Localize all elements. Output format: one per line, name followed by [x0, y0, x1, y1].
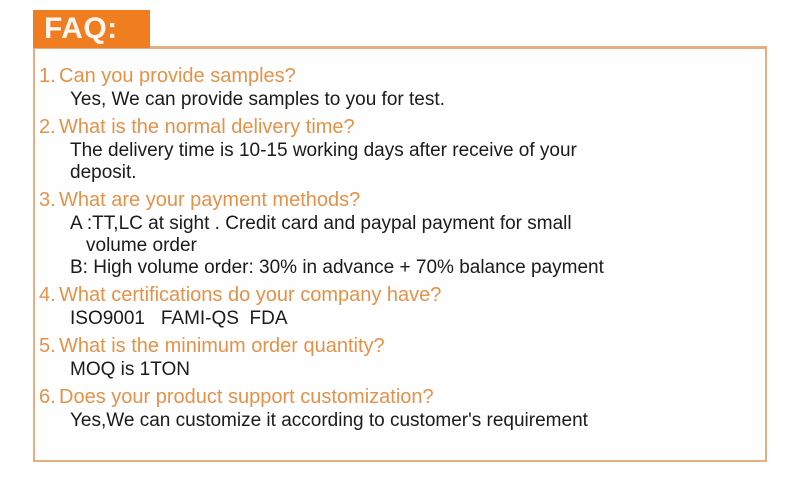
faq-question-text: What is the minimum order quantity? [59, 335, 385, 357]
faq-question-number: 3. [39, 187, 59, 213]
faq-title: FAQ: [44, 11, 118, 47]
faq-item: 5.What is the minimum order quantity? MO… [37, 333, 761, 381]
faq-question: 2.What is the normal delivery time? [37, 114, 761, 140]
faq-question: 5.What is the minimum order quantity? [37, 333, 761, 359]
faq-top-border-rule [150, 46, 767, 48]
faq-list: 1.Can you provide samples? Yes, We can p… [33, 55, 767, 432]
faq-item: 1.Can you provide samples? Yes, We can p… [37, 63, 761, 111]
faq-item: 4.What certifications do your company ha… [37, 282, 761, 330]
faq-question-number: 2. [39, 114, 59, 140]
faq-item: 6.Does your product support customizatio… [37, 384, 761, 432]
faq-answer-line: B: High volume order: 30% in advance + 7… [70, 257, 604, 278]
faq-question-number: 6. [39, 384, 59, 410]
faq-answer-line: The delivery time is 10-15 working days … [70, 140, 577, 161]
faq-answer-line: A :TT,LC at sight . Credit card and payp… [70, 213, 572, 234]
faq-question-number: 1. [39, 63, 59, 89]
faq-answer-line: Yes,We can customize it according to cus… [70, 410, 588, 431]
faq-question-number: 5. [39, 333, 59, 359]
faq-panel: FAQ: 1.Can you provide samples? Yes, We … [33, 10, 767, 462]
faq-item: 3.What are your payment methods? A :TT,L… [37, 187, 761, 279]
faq-answer-line: ISO9001 FAMI-QS FDA [70, 308, 288, 329]
faq-question-text: What are your payment methods? [59, 189, 360, 211]
faq-answer: MOQ is 1TON [37, 359, 760, 381]
faq-answer: The delivery time is 10-15 working days … [37, 140, 760, 184]
faq-question-text: What certifications do your company have… [59, 284, 441, 306]
faq-answer: ISO9001 FAMI-QS FDA [37, 308, 760, 330]
faq-question-text: Can you provide samples? [59, 65, 296, 87]
faq-question-text: Does your product support customization? [59, 386, 434, 408]
faq-answer: Yes, We can provide samples to you for t… [37, 89, 760, 111]
faq-question: 6.Does your product support customizatio… [37, 384, 761, 410]
faq-answer-line: Yes, We can provide samples to you for t… [70, 89, 445, 110]
faq-question: 1.Can you provide samples? [37, 63, 761, 89]
faq-header-tab: FAQ: [33, 10, 150, 48]
faq-answer-line: deposit. [70, 162, 137, 183]
faq-answer-line: MOQ is 1TON [70, 359, 190, 380]
faq-answer: A :TT,LC at sight . Credit card and payp… [37, 213, 760, 279]
faq-answer-line: volume order [70, 235, 760, 257]
faq-question-text: What is the normal delivery time? [59, 116, 355, 138]
faq-question-number: 4. [39, 282, 59, 308]
faq-question: 4.What certifications do your company ha… [37, 282, 761, 308]
faq-item: 2.What is the normal delivery time? The … [37, 114, 761, 184]
faq-question: 3.What are your payment methods? [37, 187, 761, 213]
faq-answer: Yes,We can customize it according to cus… [37, 410, 760, 432]
